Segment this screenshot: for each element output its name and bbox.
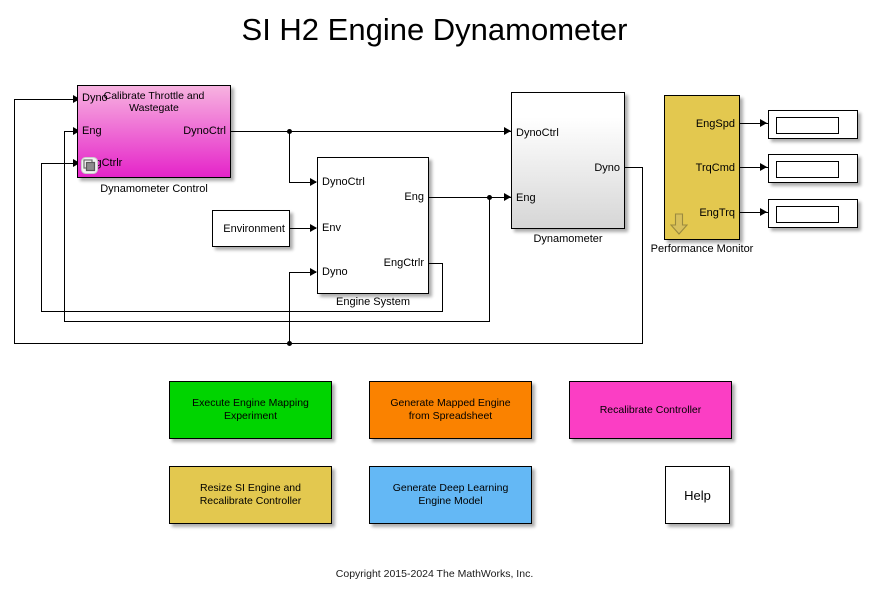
port-in-dyno: Dyno <box>82 92 108 104</box>
execute-engine-mapping-experiment-button[interactable]: Execute Engine Mapping Experiment <box>169 381 332 439</box>
port-in-engine-dyno: Dyno <box>322 266 348 278</box>
page-title: SI H2 Engine Dynamometer <box>0 12 869 48</box>
port-in-dynamometer-dynoctrl: DynoCtrl <box>516 127 559 139</box>
model-reference-icon <box>81 157 98 174</box>
port-out-engine-engctrlr: EngCtrlr <box>384 257 424 269</box>
arrow-engspd-to-display <box>760 119 767 127</box>
btn4-line2: Engine Model <box>418 495 482 507</box>
block-engine-system[interactable]: DynoCtrl Env Dyno Eng EngCtrlr <box>317 157 429 294</box>
block-label-performance-monitor: Performance Monitor <box>634 243 770 255</box>
wire-engctrlr-out <box>429 263 443 264</box>
btn1-line2: from Spreadsheet <box>409 410 492 422</box>
block-dynamometer[interactable]: DynoCtrl Eng Dyno <box>511 92 625 229</box>
port-out-dynamometer-dyno: Dyno <box>594 162 620 174</box>
wire-dynoctrl-branch-v <box>289 131 290 182</box>
wire-dyno-out <box>625 167 643 168</box>
down-arrow-icon <box>670 213 688 235</box>
btn3-line2: Recalibrate Controller <box>200 495 302 507</box>
port-out-trqcmd: TrqCmd <box>696 162 735 174</box>
environment-text: Environment <box>223 223 285 235</box>
block-environment[interactable]: Environment <box>212 210 290 247</box>
arrow-eng-to-dynamometer <box>504 193 511 201</box>
port-out-dynoctrl: DynoCtrl <box>183 125 226 137</box>
display-trqcmd-value <box>776 161 839 178</box>
wire-dyno-v <box>642 167 643 343</box>
btn3-line1: Resize SI Engine and <box>200 482 301 494</box>
generate-mapped-engine-from-spreadsheet-button[interactable]: Generate Mapped Engine from Spreadsheet <box>369 381 532 439</box>
resize-si-engine-and-recalibrate-controller-button[interactable]: Resize SI Engine and Recalibrate Control… <box>169 466 332 524</box>
wire-dyno-feedback-to-port <box>14 99 80 100</box>
display-engspd[interactable] <box>768 110 858 139</box>
display-engtrq-value <box>776 206 839 223</box>
execute-engine-mapping-experiment-label: Execute Engine Mapping Experiment <box>192 397 309 423</box>
wire-engctrlr-up <box>41 163 42 311</box>
display-engtrq[interactable] <box>768 199 858 228</box>
port-out-engspd: EngSpd <box>696 118 735 130</box>
port-in-eng: Eng <box>82 125 102 137</box>
wire-eng-main <box>429 197 511 198</box>
port-out-engtrq: EngTrq <box>699 207 735 219</box>
btn1-line1: Generate Mapped Engine <box>390 397 510 409</box>
block-label-engine-system: Engine System <box>317 296 429 308</box>
recalibrate-controller-label: Recalibrate Controller <box>600 404 702 417</box>
copyright-text: Copyright 2015-2024 The MathWorks, Inc. <box>0 568 869 580</box>
wire-engctrlr-v <box>442 263 443 311</box>
arrow-trqcmd-to-display <box>760 163 767 171</box>
arrow-env-to-engine-system <box>310 224 317 232</box>
generate-deep-learning-label: Generate Deep Learning Engine Model <box>393 482 509 508</box>
wire-eng-feedback-up <box>64 131 65 321</box>
port-in-dynamometer-eng: Eng <box>516 192 536 204</box>
block-performance-monitor[interactable]: EngSpd TrqCmd EngTrq <box>664 95 740 240</box>
port-in-engine-dynoctrl: DynoCtrl <box>322 176 365 188</box>
wire-dyno-bus <box>14 343 643 344</box>
port-out-engine-eng: Eng <box>404 191 424 203</box>
port-in-engine-env: Env <box>322 222 341 234</box>
recalibrate-controller-button[interactable]: Recalibrate Controller <box>569 381 732 439</box>
block-label-dynamometer-control: Dynamometer Control <box>77 183 231 195</box>
resize-si-engine-label: Resize SI Engine and Recalibrate Control… <box>200 482 302 508</box>
wire-eng-feedback-v <box>489 197 490 321</box>
arrow-dynoctrl-to-dynamometer <box>504 127 511 135</box>
help-button[interactable]: Help <box>665 466 730 524</box>
wire-dyno-feedback-up <box>14 99 15 343</box>
wire-eng-feedback-h <box>64 321 490 322</box>
block-label-dynamometer: Dynamometer <box>511 233 625 245</box>
wire-dyno-branch-v <box>289 272 290 343</box>
block-dynamometer-control[interactable]: Calibrate Throttle and Wastegate Dyno En… <box>77 85 231 178</box>
wire-dynoctrl-main <box>231 131 511 132</box>
arrow-dyno-to-engine-system <box>310 268 317 276</box>
generate-deep-learning-engine-model-button[interactable]: Generate Deep Learning Engine Model <box>369 466 532 524</box>
btn0-line2: Experiment <box>224 410 277 422</box>
simulink-model-canvas: SI H2 Engine Dynamometer Calibrate <box>0 0 869 594</box>
display-trqcmd[interactable] <box>768 154 858 183</box>
help-label: Help <box>684 489 711 502</box>
display-engspd-value <box>776 117 839 134</box>
btn4-line1: Generate Deep Learning <box>393 482 509 494</box>
wire-engctrlr-h <box>41 311 443 312</box>
arrow-dynoctrl-to-engine-system <box>310 178 317 186</box>
btn0-line1: Execute Engine Mapping <box>192 397 309 409</box>
arrow-engtrq-to-display <box>760 208 767 216</box>
generate-mapped-engine-label: Generate Mapped Engine from Spreadsheet <box>390 397 510 423</box>
